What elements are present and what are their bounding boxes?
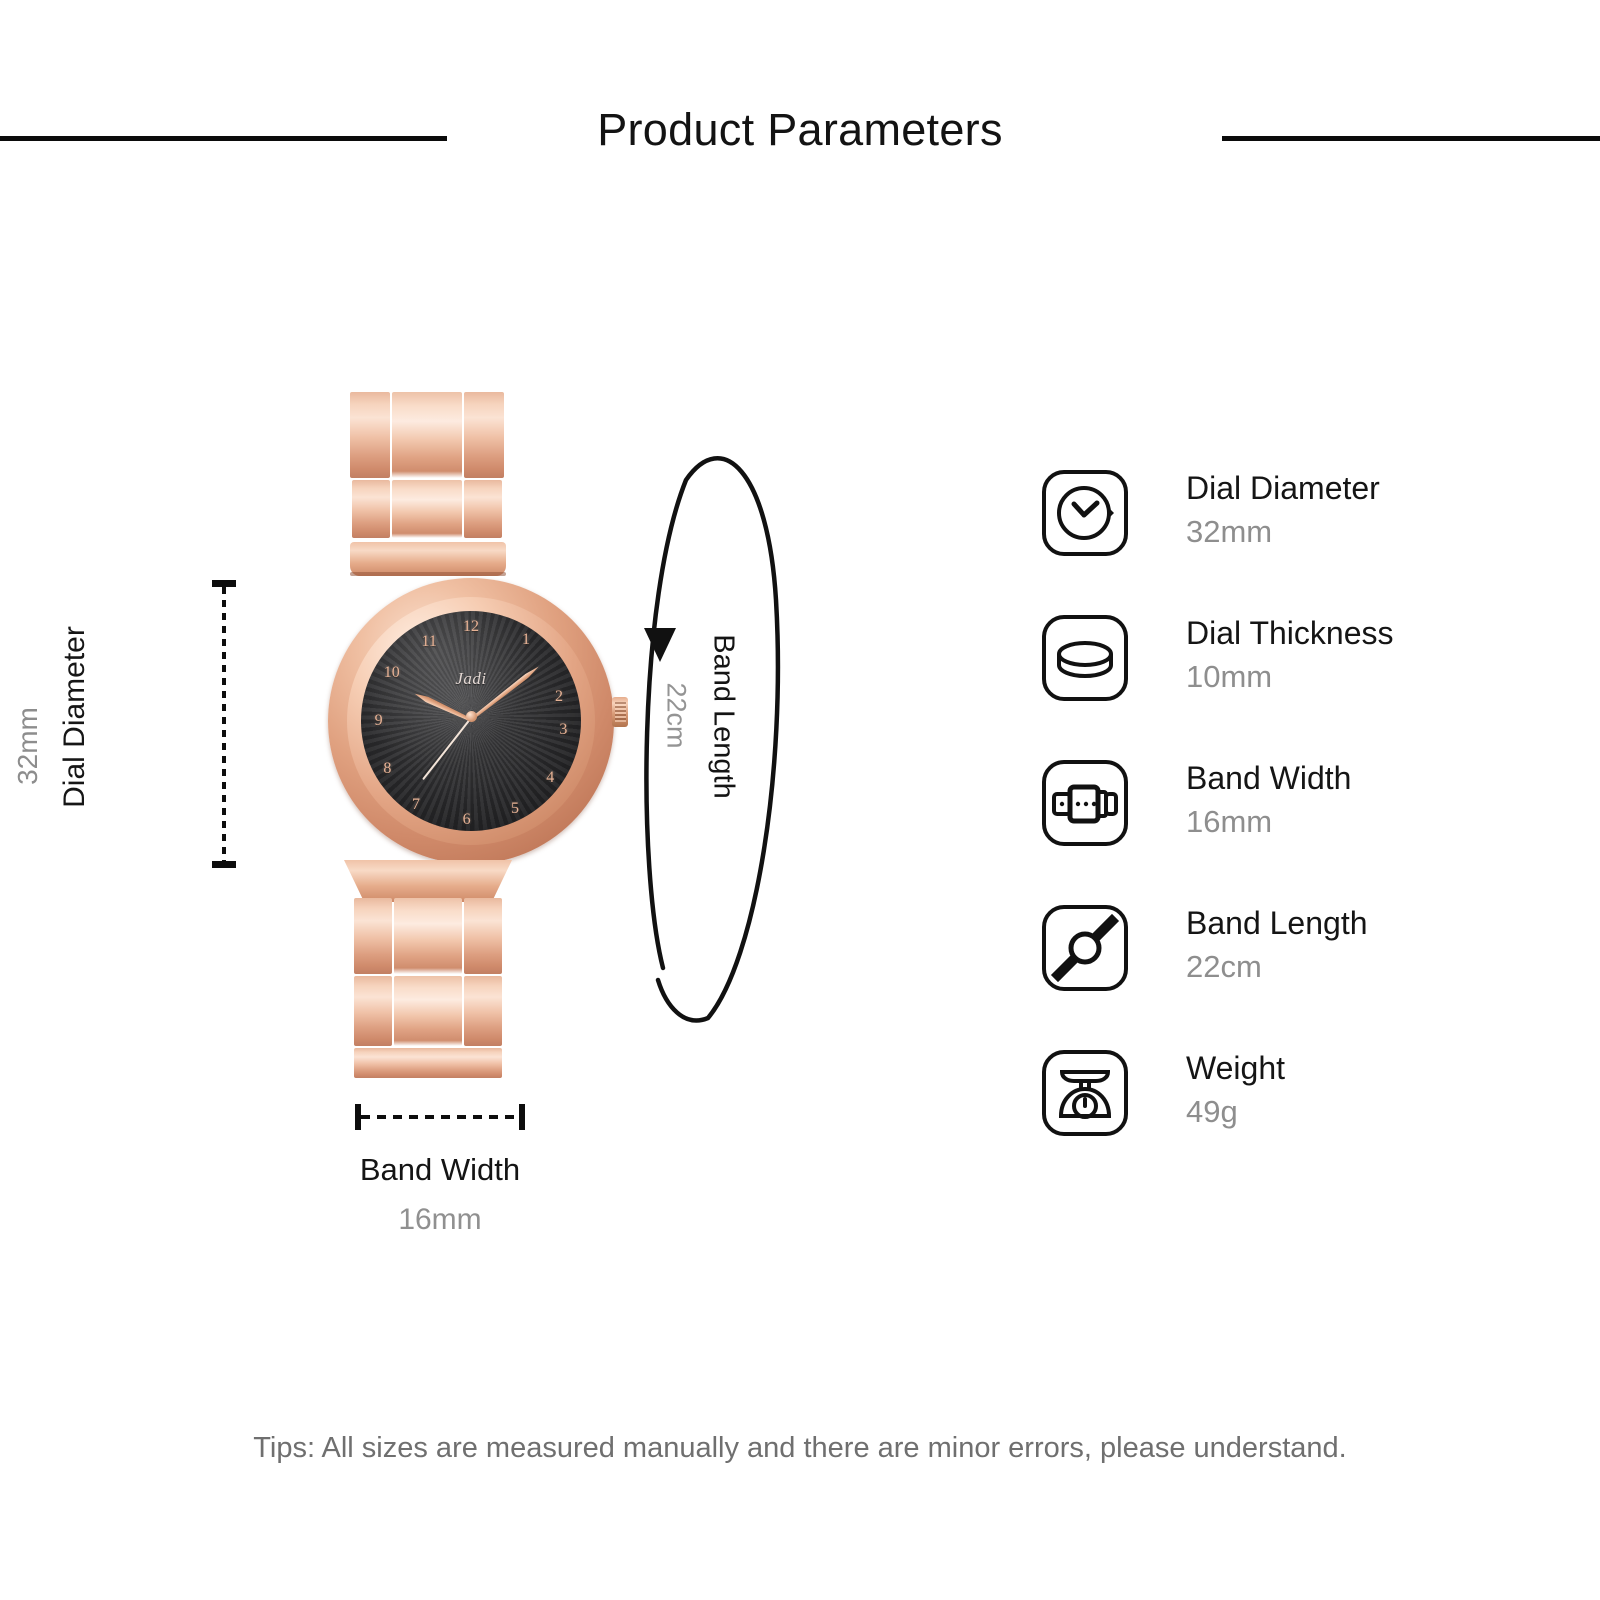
dimension-dashes xyxy=(222,587,226,861)
bracelet-link-upper-outer-left-2 xyxy=(352,480,390,538)
watch-lug-bottom xyxy=(344,860,512,902)
bracelet-link-upper-outer-left xyxy=(350,392,390,478)
bracelet-link-lower-outer-left-2 xyxy=(354,976,392,1046)
spec-row-band-length: Band Length 22cm xyxy=(1040,903,1560,1048)
bracelet-link-upper-outer-right xyxy=(464,392,504,478)
bracelet-link-lower-end xyxy=(354,1048,502,1078)
bracelet-link-upper-outer-right-2 xyxy=(464,480,502,538)
dial-numeral-9: 9 xyxy=(375,712,383,730)
bracelet-link-upper-center-1 xyxy=(392,392,462,478)
band-length-label: Band Length xyxy=(707,592,740,842)
spec-row-band-width: Band Width 16mm xyxy=(1040,758,1560,903)
dial-numeral-10: 10 xyxy=(384,664,400,682)
bracelet-link-lower-center-1 xyxy=(394,898,462,974)
dial-numeral-8: 8 xyxy=(383,760,391,778)
specifications-list: Dial Diameter 32mm Dial Thickness 10mm xyxy=(1040,468,1560,1193)
spec-row-weight: Weight 49g xyxy=(1040,1048,1560,1193)
dial-numeral-11: 11 xyxy=(421,633,436,651)
spec-value: 32mm xyxy=(1186,510,1380,554)
dial-thickness-icon xyxy=(1040,613,1130,703)
bracelet-link-lower-outer-right xyxy=(464,898,502,974)
watch-dial: Jadi 12 1 2 3 4 5 6 7 8 9 10 11 xyxy=(361,611,581,831)
page-title: Product Parameters xyxy=(0,104,1600,156)
spec-text-dial-thickness: Dial Thickness 10mm xyxy=(1186,611,1393,699)
dial-numeral-3: 3 xyxy=(559,721,567,739)
dial-numeral-1: 1 xyxy=(522,631,530,649)
spec-text-dial-diameter: Dial Diameter 32mm xyxy=(1186,466,1380,554)
dial-diameter-dimension-line xyxy=(212,580,236,868)
bracelet-link-upper-center-2 xyxy=(392,480,462,538)
tips-note: Tips: All sizes are measured manually an… xyxy=(0,1432,1600,1465)
band-width-label: Band Width xyxy=(260,1152,620,1188)
spec-text-band-length: Band Length 22cm xyxy=(1186,901,1368,989)
dial-numeral-7: 7 xyxy=(412,796,420,814)
dial-numeral-5: 5 xyxy=(511,800,519,818)
bracelet-link-lower-outer-left xyxy=(354,898,392,974)
dial-numeral-6: 6 xyxy=(463,811,471,829)
watch-case: Jadi 12 1 2 3 4 5 6 7 8 9 10 11 xyxy=(328,578,614,864)
band-length-value: 22cm xyxy=(661,616,692,816)
bracelet-link-lower-center-2 xyxy=(394,976,462,1046)
spec-label: Band Length xyxy=(1186,901,1368,945)
dial-numeral-12: 12 xyxy=(463,618,479,636)
watch-crown-ridges xyxy=(615,702,626,722)
spec-row-dial-diameter: Dial Diameter 32mm xyxy=(1040,468,1560,613)
dial-numeral-4: 4 xyxy=(546,769,554,787)
spec-text-weight: Weight 49g xyxy=(1186,1046,1285,1134)
product-parameters-infographic: Product Parameters Jadi 12 1 2 3 xyxy=(0,0,1600,1600)
watch-product-image: Jadi 12 1 2 3 4 5 6 7 8 9 10 11 xyxy=(336,392,606,1098)
watch-lug-top-shadow xyxy=(350,572,506,576)
spec-value: 16mm xyxy=(1186,800,1351,844)
spec-value: 10mm xyxy=(1186,655,1393,699)
spec-label: Weight xyxy=(1186,1046,1285,1090)
watch-lug-top xyxy=(350,542,506,576)
spec-text-band-width: Band Width 16mm xyxy=(1186,756,1351,844)
band-width-icon xyxy=(1040,758,1130,848)
dimension-cap-bottom xyxy=(212,861,236,868)
band-length-icon xyxy=(1040,903,1130,993)
band-width-dimension-line xyxy=(355,1104,525,1130)
spec-value: 22cm xyxy=(1186,945,1368,989)
dial-brand-logo: Jadi xyxy=(455,669,486,689)
dial-numeral-2: 2 xyxy=(555,688,563,706)
spec-label: Dial Thickness xyxy=(1186,611,1393,655)
spec-value: 49g xyxy=(1186,1090,1285,1134)
spec-label: Dial Diameter xyxy=(1186,466,1380,510)
watch-bezel: Jadi 12 1 2 3 4 5 6 7 8 9 10 11 xyxy=(347,597,595,845)
dial-diameter-value: 32mm xyxy=(12,656,44,836)
weight-scale-icon xyxy=(1040,1048,1130,1138)
dimension-dashes-horizontal xyxy=(361,1115,519,1119)
dial-diameter-label: Dial Diameter xyxy=(58,602,92,832)
band-width-value: 16mm xyxy=(260,1203,620,1237)
dimension-cap-top xyxy=(212,580,236,587)
dimension-cap-right xyxy=(519,1104,525,1130)
bracelet-link-lower-outer-right-2 xyxy=(464,976,502,1046)
spec-row-dial-thickness: Dial Thickness 10mm xyxy=(1040,613,1560,758)
spec-label: Band Width xyxy=(1186,756,1351,800)
watch-dial-icon xyxy=(1040,468,1130,558)
hands-center-cap xyxy=(466,711,477,722)
